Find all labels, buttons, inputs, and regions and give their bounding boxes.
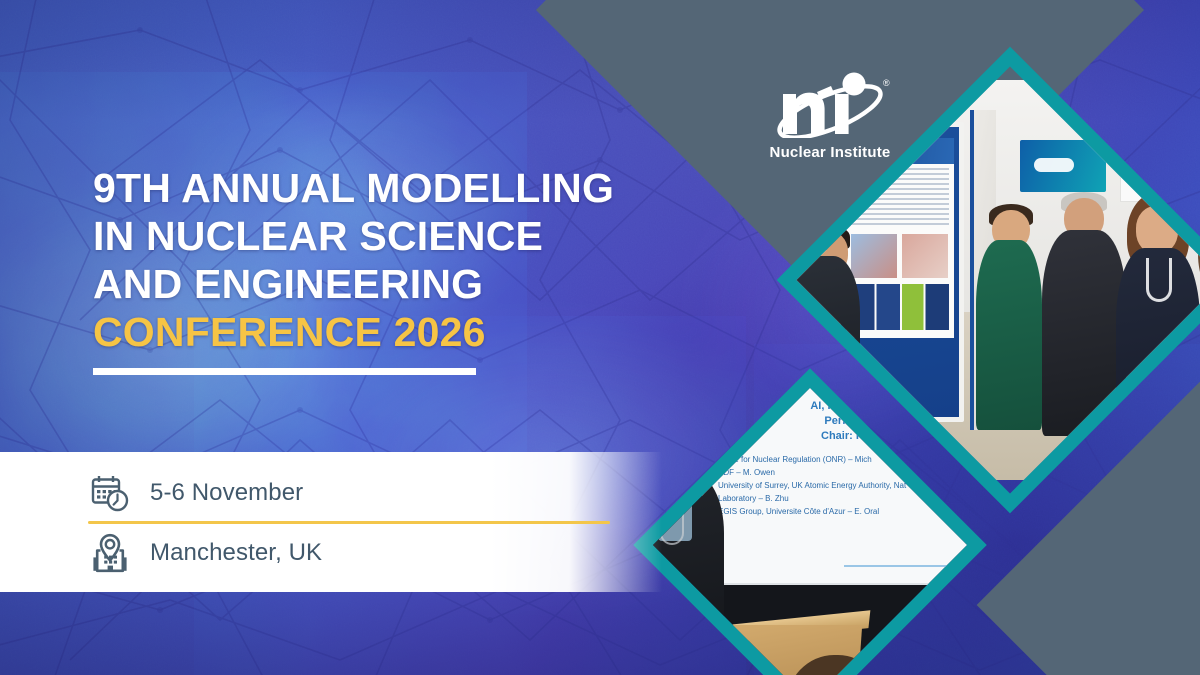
event-date-row: 5-6 November	[88, 464, 618, 521]
slide-bullet-5: EGIS Group, Universite Côte d'Azur – E. …	[718, 505, 987, 518]
calendar-clock-icon	[88, 471, 132, 515]
event-date-value: 5-6 November	[150, 479, 303, 507]
nuclear-institute-logo[interactable]: ® Nuclear Institute	[757, 72, 903, 168]
location-building-icon	[88, 531, 132, 575]
title-underline-rule	[93, 368, 476, 375]
event-title-block: 9TH ANNUAL MODELLING IN NUCLEAR SCIENCE …	[93, 164, 653, 375]
logo-organisation-name: Nuclear Institute	[757, 144, 903, 161]
title-line-2: IN NUCLEAR SCIENCE	[93, 212, 653, 260]
title-line-3: AND ENGINEERING	[93, 260, 653, 308]
ni-monogram-icon: ®	[757, 72, 903, 138]
title-line-1: 9TH ANNUAL MODELLING	[93, 164, 653, 212]
event-location-row: Manchester, UK	[88, 524, 618, 581]
event-location-value: Manchester, UK	[150, 539, 322, 567]
conference-banner: AI, Innovation and Performance Chair: Pr…	[0, 0, 1200, 675]
title-conference-year: CONFERENCE 2026	[93, 308, 653, 356]
registered-mark: ®	[883, 78, 890, 88]
event-details-panel: 5-6 November	[0, 452, 662, 592]
